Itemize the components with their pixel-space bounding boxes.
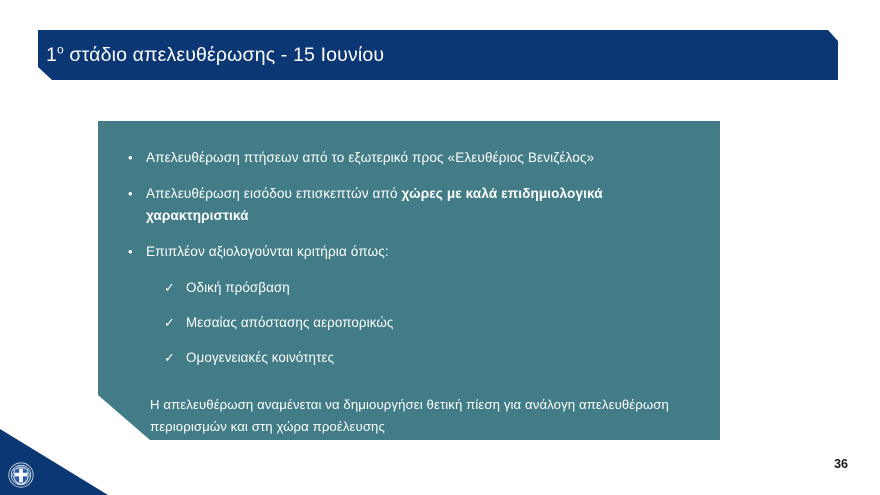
- check-item-label: Οδική πρόσβαση: [186, 277, 290, 298]
- closing-paragraph: Η απελευθέρωση αναμένεται να δημιουργήσε…: [150, 394, 670, 438]
- bullet-point-icon: •: [124, 241, 146, 263]
- title-rest: στάδιο απελευθέρωσης - 15 Ιουνίου: [64, 44, 384, 66]
- checkmark-icon: ✓: [164, 312, 186, 333]
- bullet-point-icon: •: [124, 147, 146, 169]
- checkmark-icon: ✓: [164, 277, 186, 298]
- slide-canvas: 1ο στάδιο απελευθέρωσης - 15 Ιουνίου • Α…: [0, 0, 880, 495]
- bullet-text: Επιπλέον αξιολογούνται κριτήρια όπως:: [146, 241, 389, 263]
- bullet-item: • Απελευθέρωση πτήσεων από το εξωτερικό …: [124, 147, 696, 169]
- title-prefix: 1: [46, 44, 57, 66]
- bullet-text: Απελευθέρωση πτήσεων από το εξωτερικό πρ…: [146, 147, 594, 169]
- page-number: 36: [834, 457, 848, 471]
- bullet-text: Απελευθέρωση εισόδου επισκεπτών από χώρε…: [146, 183, 696, 227]
- bullet-text-normal: Απελευθέρωση εισόδου επισκεπτών από: [146, 186, 401, 201]
- check-sublist: ✓ Οδική πρόσβαση ✓ Μεσαίας απόστασης αερ…: [164, 277, 696, 368]
- bullet-text-normal: Απελευθέρωση πτήσεων από το εξωτερικό πρ…: [146, 150, 594, 165]
- check-item: ✓ Ομογενειακές κοινότητες: [164, 347, 696, 368]
- bullet-text-normal: Επιπλέον αξιολογούνται κριτήρια όπως:: [146, 244, 389, 259]
- check-item: ✓ Μεσαίας απόστασης αεροπορικώς: [164, 312, 696, 333]
- check-item-label: Ομογενειακές κοινότητες: [186, 347, 334, 368]
- title-ordinal-superscript: ο: [57, 42, 64, 56]
- hellenic-republic-emblem-icon: [8, 462, 34, 488]
- bullet-item: • Απελευθέρωση εισόδου επισκεπτών από χώ…: [124, 183, 696, 227]
- slide-title-banner: 1ο στάδιο απελευθέρωσης - 15 Ιουνίου: [38, 30, 838, 80]
- bullet-item: • Επιπλέον αξιολογούνται κριτήρια όπως:: [124, 241, 696, 263]
- bullet-point-icon: •: [124, 183, 146, 205]
- checkmark-icon: ✓: [164, 347, 186, 368]
- page-title: 1ο στάδιο απελευθέρωσης - 15 Ιουνίου: [38, 44, 384, 67]
- check-item-label: Μεσαίας απόστασης αεροπορικώς: [186, 312, 393, 333]
- content-panel: • Απελευθέρωση πτήσεων από το εξωτερικό …: [98, 121, 720, 440]
- check-item: ✓ Οδική πρόσβαση: [164, 277, 696, 298]
